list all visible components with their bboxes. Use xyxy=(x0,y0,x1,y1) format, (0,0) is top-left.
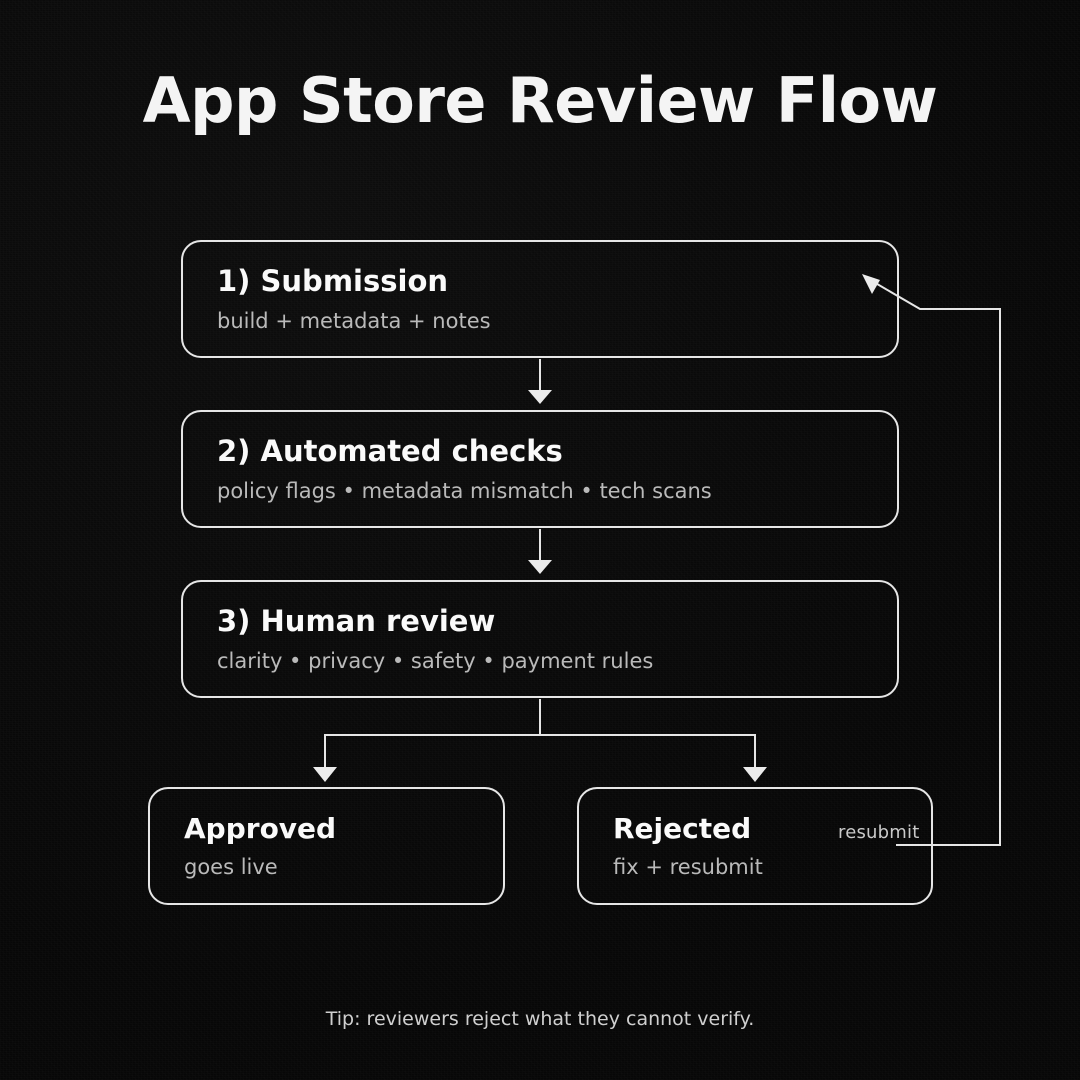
node-approved[interactable]: Approved goes live xyxy=(148,787,505,905)
edge-submission-to-automated xyxy=(528,359,552,404)
edge-rejected-to-submission xyxy=(862,274,1000,845)
node-rejected[interactable]: Rejected fix + resubmit xyxy=(577,787,933,905)
node-human-review[interactable]: 3) Human review clarity • privacy • safe… xyxy=(181,580,899,698)
edge-label-resubmit: resubmit xyxy=(838,822,919,843)
edge-layer xyxy=(0,0,1080,1080)
edge-human-to-rejected xyxy=(540,735,767,782)
node-human-review-title: 3) Human review xyxy=(217,604,863,638)
node-rejected-subtitle: fix + resubmit xyxy=(613,855,897,880)
edge-automated-to-human xyxy=(528,529,552,574)
node-approved-title: Approved xyxy=(184,812,469,845)
node-human-review-subtitle: clarity • privacy • safety • payment rul… xyxy=(217,649,863,674)
diagram-canvas: App Store Review Flow 1) Submission xyxy=(0,0,1080,1080)
node-submission-subtitle: build + metadata + notes xyxy=(217,309,863,334)
edge-human-to-approved xyxy=(313,699,540,782)
node-automated-checks-title: 2) Automated checks xyxy=(217,434,863,468)
node-automated-checks[interactable]: 2) Automated checks policy flags • metad… xyxy=(181,410,899,528)
node-submission-title: 1) Submission xyxy=(217,264,863,298)
node-submission[interactable]: 1) Submission build + metadata + notes xyxy=(181,240,899,358)
node-automated-checks-subtitle: policy flags • metadata mismatch • tech … xyxy=(217,479,863,504)
node-approved-subtitle: goes live xyxy=(184,855,469,880)
